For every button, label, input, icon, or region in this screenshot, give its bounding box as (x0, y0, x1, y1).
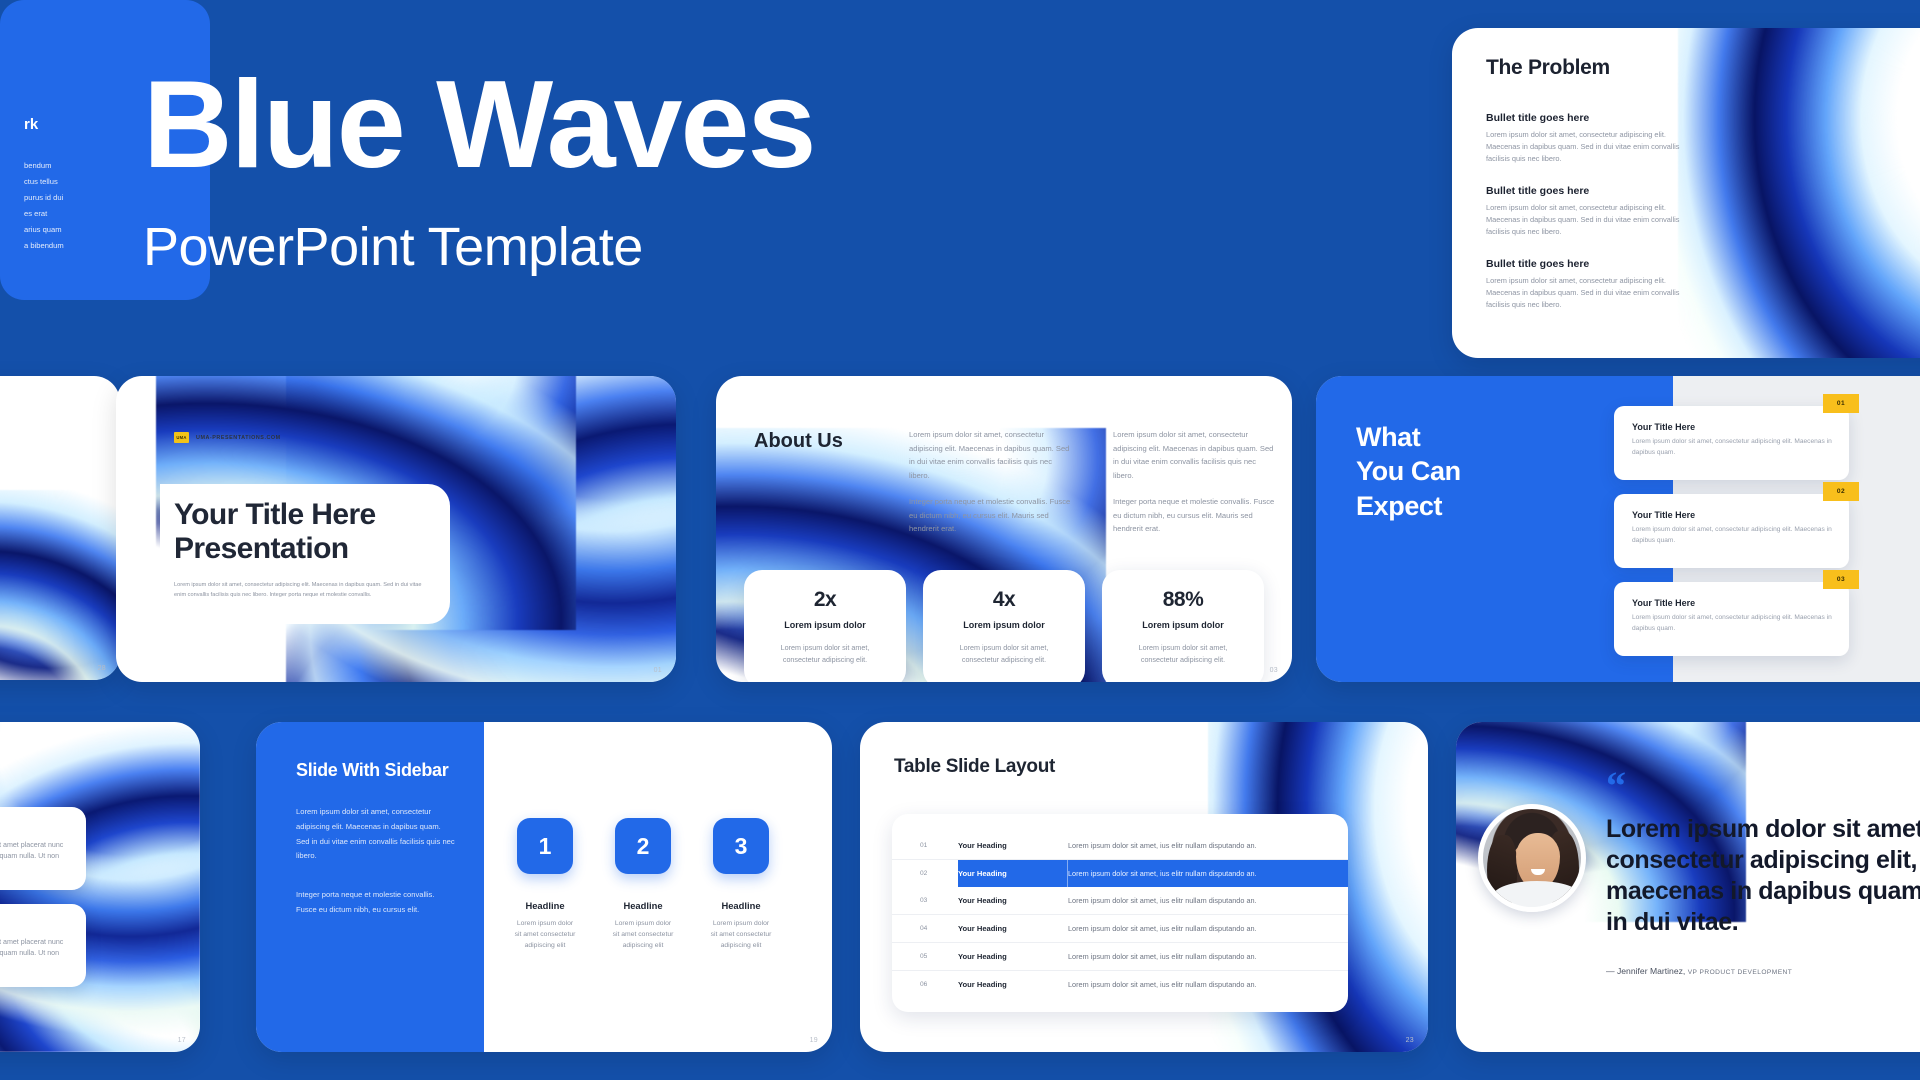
bullet-body: Lorem ipsum dolor sit amet, consectetur … (1486, 129, 1686, 165)
heading-line-2: Presentation (174, 532, 349, 565)
slide-title: Table Slide Layout (894, 756, 1055, 778)
headline-card: Headline Curabitur iaculis risus erat, s… (0, 807, 86, 890)
slide-title: Slide With Sidebar (296, 760, 456, 781)
testimonial-attribution: — Jennifer Martinez, VP PRODUCT DEVELOPM… (1606, 966, 1920, 976)
page-number: 01 (654, 667, 662, 674)
row-heading: Your Heading (958, 943, 1068, 971)
row-heading: Your Heading (958, 915, 1068, 943)
bullet-title: Bullet title goes here (1486, 258, 1686, 270)
card-title: Headline (0, 918, 68, 929)
wave-graphic (0, 490, 120, 680)
page-number: 28 (98, 665, 106, 672)
bullet-item: Bullet title goes here Lorem ipsum dolor… (1486, 185, 1686, 238)
slide-with-sidebar[interactable]: Slide With Sidebar Lorem ipsum dolor sit… (256, 722, 832, 1052)
page-number: 17 (178, 1037, 186, 1044)
heading-line-1: What (1356, 422, 1420, 452)
table-row[interactable]: 03 Your Heading Lorem ipsum dolor sit am… (892, 887, 1348, 915)
author-name: — Jennifer Martinez, (1606, 966, 1685, 976)
step-item: 2 Headline Lorem ipsum dolor sit amet co… (612, 818, 674, 952)
heading-line-2: You Can (1356, 456, 1461, 486)
row-index: 01 (892, 832, 958, 860)
stat-body: Lorem ipsum dolor sit amet, consectetur … (744, 642, 906, 665)
slide-title: About Us (754, 430, 843, 453)
sidebar-paragraph: Integer porta neque et molestie convalli… (296, 888, 456, 918)
logo-mark-icon: UMA (174, 432, 189, 443)
row-index: 02 (892, 860, 958, 888)
stat-value: 88% (1102, 588, 1264, 612)
card-title: Headline (0, 821, 68, 832)
slide-testimonial[interactable]: “ Lorem ipsum dolor sit amet, consectetu… (1456, 722, 1920, 1052)
row-description: Lorem ipsum dolor sit amet, ius elitr nu… (1068, 971, 1348, 999)
card-number-badge: 01 (1823, 394, 1859, 413)
slide-what-you-can-expect[interactable]: What You Can Expect 01 Your Title Here L… (1316, 376, 1920, 682)
step-title: Headline (710, 900, 772, 911)
card-body: Curabitur iaculis risus erat, sit amet p… (0, 840, 68, 874)
column-paragraph: Lorem ipsum dolor sit amet, consectetur … (909, 428, 1074, 482)
stat-body: Lorem ipsum dolor sit amet, consectetur … (923, 642, 1085, 665)
expect-card-group: 01 Your Title Here Lorem ipsum dolor sit… (1614, 406, 1849, 670)
row-index: 06 (892, 971, 958, 999)
slide-teamwork[interactable]: 28 (0, 376, 120, 680)
bullet-body: Lorem ipsum dolor sit amet, consectetur … (1486, 202, 1686, 238)
card-body: Lorem ipsum dolor sit amet, consectetur … (1632, 525, 1833, 547)
card-title: Your Title Here (1632, 510, 1833, 520)
title-card: Your Title Here Presentation Lorem ipsum… (160, 484, 450, 624)
row-description: Lorem ipsum dolor sit amet, ius elitr nu… (1068, 943, 1348, 971)
bullet-item: Bullet title goes here Lorem ipsum dolor… (1486, 258, 1686, 311)
bullet-list: Bullet title goes here Lorem ipsum dolor… (1486, 112, 1686, 311)
bullet-title: Bullet title goes here (1486, 112, 1686, 124)
page-title: Blue Waves (143, 60, 814, 190)
stat-label: Lorem ipsum dolor (923, 620, 1085, 630)
bullet-body: Lorem ipsum dolor sit amet, consectetur … (1486, 275, 1686, 311)
row-description: Lorem ipsum dolor sit amet, ius elitr nu… (1068, 915, 1348, 943)
stat-value: 4x (923, 588, 1085, 612)
logo-text: UMA-PRESENTATIONS.COM (196, 435, 281, 441)
table-row[interactable]: 05 Your Heading Lorem ipsum dolor sit am… (892, 943, 1348, 971)
column-paragraph: Lorem ipsum dolor sit amet, consectetur … (1113, 428, 1278, 482)
slide-title: rk (24, 116, 38, 133)
testimonial-body: “ Lorem ipsum dolor sit amet, consectetu… (1606, 774, 1920, 976)
row-heading: Your Heading (958, 832, 1068, 860)
headline-card: Headline Curabitur iaculis risus erat, s… (0, 904, 86, 987)
slide-table-layout[interactable]: Table Slide Layout 01 Your Heading Lorem… (860, 722, 1428, 1052)
slide-headline-cards[interactable]: Headline Curabitur iaculis risus erat, s… (0, 722, 200, 1052)
row-description: Lorem ipsum dolor sit amet, ius elitr nu… (1068, 832, 1348, 860)
column-paragraph: Integer porta neque et molestie convalli… (909, 495, 1074, 536)
card-number-badge: 02 (1823, 482, 1859, 501)
stat-card-group: 2x Lorem ipsum dolor Lorem ipsum dolor s… (744, 570, 1264, 682)
step-group: 1 Headline Lorem ipsum dolor sit amet co… (514, 818, 772, 952)
slide-lines: bendum ctus tellus purus id dui es erat … (24, 158, 64, 255)
row-heading: Your Heading (958, 887, 1068, 915)
card-body: Curabitur iaculis risus erat, sit amet p… (0, 937, 68, 971)
lead-paragraph: Lorem ipsum dolor sit amet, consectetur … (174, 580, 432, 601)
stat-card: 4x Lorem ipsum dolor Lorem ipsum dolor s… (923, 570, 1085, 682)
page-number: 03 (1270, 667, 1278, 674)
page-number: 19 (810, 1037, 818, 1044)
hero-block: Blue Waves PowerPoint Template (143, 60, 814, 278)
column-paragraph: Integer porta neque et molestie convalli… (1113, 495, 1278, 536)
table-row[interactable]: 06 Your Heading Lorem ipsum dolor sit am… (892, 971, 1348, 999)
heading-line-1: Your Title Here (174, 498, 376, 531)
row-heading: Your Heading (958, 971, 1068, 999)
slide-the-problem[interactable]: The Problem Bullet title goes here Lorem… (1452, 28, 1920, 358)
step-body: Lorem ipsum dolor sit amet consectetur a… (710, 919, 772, 952)
step-body: Lorem ipsum dolor sit amet consectetur a… (612, 919, 674, 952)
text-column: Lorem ipsum dolor sit amet, consectetur … (909, 428, 1074, 549)
card-number-badge: 03 (1823, 570, 1859, 589)
avatar-shirt (1493, 881, 1581, 911)
page-number: 23 (1406, 1037, 1414, 1044)
row-description: Lorem ipsum dolor sit amet, ius elitr nu… (1068, 860, 1348, 888)
brand-logo: UMA UMA-PRESENTATIONS.COM (174, 432, 281, 443)
bullet-item: Bullet title goes here Lorem ipsum dolor… (1486, 112, 1686, 165)
quote-mark-icon: “ (1606, 774, 1920, 798)
expect-card[interactable]: 01 Your Title Here Lorem ipsum dolor sit… (1614, 406, 1849, 480)
slide-heading: Your Title Here Presentation (174, 498, 450, 566)
expect-card[interactable]: 02 Your Title Here Lorem ipsum dolor sit… (1614, 494, 1849, 568)
table-row-highlighted[interactable]: 02 Your Heading Lorem ipsum dolor sit am… (892, 860, 1348, 888)
stat-label: Lorem ipsum dolor (744, 620, 906, 630)
sidebar-panel: Slide With Sidebar Lorem ipsum dolor sit… (256, 722, 484, 1052)
slide-about-us[interactable]: About Us Lorem ipsum dolor sit amet, con… (716, 376, 1292, 682)
card-body: Lorem ipsum dolor sit amet, consectetur … (1632, 437, 1833, 459)
avatar (1478, 804, 1586, 912)
row-index: 04 (892, 915, 958, 943)
card-title: Your Title Here (1632, 422, 1833, 432)
stat-value: 2x (744, 588, 906, 612)
sidebar-paragraph: Lorem ipsum dolor sit amet, consectetur … (296, 805, 456, 864)
stat-label: Lorem ipsum dolor (1102, 620, 1264, 630)
step-item: 3 Headline Lorem ipsum dolor sit amet co… (710, 818, 772, 952)
step-number-badge: 3 (713, 818, 769, 874)
data-table: 01 Your Heading Lorem ipsum dolor sit am… (892, 832, 1348, 998)
step-item: 1 Headline Lorem ipsum dolor sit amet co… (514, 818, 576, 952)
slide-title: The Problem (1486, 56, 1920, 80)
slide-title-slide[interactable]: UMA UMA-PRESENTATIONS.COM Your Title Her… (116, 376, 676, 682)
heading-line-3: Expect (1356, 491, 1442, 521)
expect-card[interactable]: 03 Your Title Here Lorem ipsum dolor sit… (1614, 582, 1849, 656)
stat-body: Lorem ipsum dolor sit amet, consectetur … (1102, 642, 1264, 665)
row-heading: Your Heading (958, 860, 1068, 888)
text-column: Lorem ipsum dolor sit amet, consectetur … (1113, 428, 1278, 549)
stat-card: 88% Lorem ipsum dolor Lorem ipsum dolor … (1102, 570, 1264, 682)
row-description: Lorem ipsum dolor sit amet, ius elitr nu… (1068, 887, 1348, 915)
bullet-title: Bullet title goes here (1486, 185, 1686, 197)
step-title: Headline (612, 900, 674, 911)
stat-card: 2x Lorem ipsum dolor Lorem ipsum dolor s… (744, 570, 906, 682)
author-role: VP PRODUCT DEVELOPMENT (1688, 969, 1793, 976)
step-number-badge: 2 (615, 818, 671, 874)
step-number-badge: 1 (517, 818, 573, 874)
row-index: 03 (892, 887, 958, 915)
logo-mark-text: UMA (176, 435, 186, 440)
step-title: Headline (514, 900, 576, 911)
page-subtitle: PowerPoint Template (143, 216, 814, 278)
table-row[interactable]: 01 Your Heading Lorem ipsum dolor sit am… (892, 832, 1348, 860)
table-row[interactable]: 04 Your Heading Lorem ipsum dolor sit am… (892, 915, 1348, 943)
step-body: Lorem ipsum dolor sit amet consectetur a… (514, 919, 576, 952)
table-container: 01 Your Heading Lorem ipsum dolor sit am… (892, 814, 1348, 1012)
card-body: Lorem ipsum dolor sit amet, consectetur … (1632, 613, 1833, 635)
slide-heading: What You Can Expect (1356, 420, 1461, 523)
testimonial-quote: Lorem ipsum dolor sit amet, consectetur … (1606, 814, 1920, 938)
card-title: Your Title Here (1632, 598, 1833, 608)
row-index: 05 (892, 943, 958, 971)
text-columns: Lorem ipsum dolor sit amet, consectetur … (909, 428, 1278, 549)
